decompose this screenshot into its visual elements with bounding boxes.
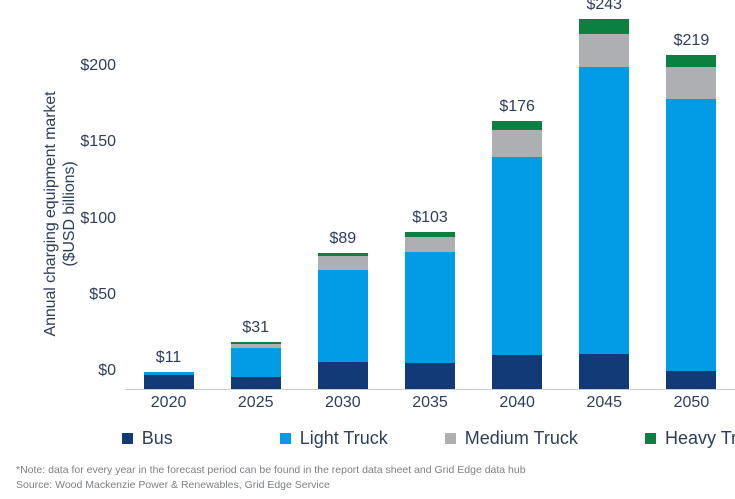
bar-segment-medium-truck[interactable] [318, 256, 368, 270]
bar-column[interactable]: $2432045 [579, 19, 629, 389]
bar-total-label: $11 [156, 349, 182, 367]
legend-label: Bus [142, 428, 173, 449]
footnote-source: Source: Wood Mackenzie Power & Renewable… [16, 478, 716, 493]
bar-segment-light-truck[interactable] [579, 67, 629, 354]
bar-total-label: $89 [329, 230, 356, 248]
plot-area: $0$50$100$150$200$250$112020$312025$8920… [125, 8, 735, 390]
y-axis-tick-label: $0 [98, 362, 116, 380]
x-axis-tick-label: 2040 [499, 394, 535, 412]
bar-segment-medium-truck[interactable] [579, 34, 629, 68]
legend-label: Heavy Truck [665, 428, 735, 449]
bar-total-label: $31 [242, 319, 269, 337]
bar-segment-bus[interactable] [492, 355, 542, 389]
bar-segment-heavy-truck[interactable] [579, 19, 629, 34]
legend-item-light-truck[interactable]: Light Truck [280, 424, 388, 452]
legend-label: Light Truck [300, 428, 388, 449]
bar-column[interactable]: $112020 [144, 372, 194, 389]
bar-segment-bus[interactable] [666, 371, 716, 389]
y-axis-tick-label: $150 [80, 133, 116, 151]
legend-item-medium-truck[interactable]: Medium Truck [445, 424, 578, 452]
bar-column[interactable]: $1762040 [492, 121, 542, 389]
x-axis-tick-label: 2025 [238, 394, 274, 412]
bar-segment-medium-truck[interactable] [405, 237, 455, 252]
bar-segment-heavy-truck[interactable] [492, 121, 542, 130]
bar-column[interactable]: $892030 [318, 253, 368, 389]
bar-segment-light-truck[interactable] [318, 270, 368, 361]
y-axis-tick-label: $50 [89, 286, 116, 304]
footnote-note: *Note: data for every year in the foreca… [16, 463, 716, 478]
x-axis-tick-label: 2045 [586, 394, 622, 412]
bar-segment-light-truck[interactable] [492, 157, 542, 355]
x-axis-line [125, 389, 735, 390]
bar-total-label: $176 [499, 98, 535, 116]
bar-segment-bus[interactable] [318, 362, 368, 389]
bar-column[interactable]: $2192050 [666, 55, 716, 389]
bar-segment-bus[interactable] [231, 377, 281, 389]
x-axis-tick-label: 2020 [151, 394, 187, 412]
bar-segment-medium-truck[interactable] [666, 67, 716, 99]
y-axis-title: Annual charging equipment market ($USD b… [41, 39, 79, 389]
legend-item-heavy-truck[interactable]: Heavy Truck [645, 424, 735, 452]
y-axis-tick-label: $100 [80, 210, 116, 228]
bar-segment-heavy-truck[interactable] [666, 55, 716, 67]
x-axis-tick-label: 2035 [412, 394, 448, 412]
bar-column[interactable]: $1032035 [405, 232, 455, 389]
footnotes-block: *Note: data for every year in the foreca… [16, 463, 716, 493]
bar-segment-light-truck[interactable] [231, 348, 281, 377]
legend-label: Medium Truck [465, 428, 578, 449]
x-axis-tick-label: 2050 [674, 394, 710, 412]
y-axis-tick-label: $200 [80, 57, 116, 75]
legend-item-bus[interactable]: Bus [122, 424, 173, 452]
bar-segment-bus[interactable] [579, 354, 629, 389]
bar-segment-light-truck[interactable] [666, 99, 716, 370]
x-axis-tick-label: 2030 [325, 394, 361, 412]
bar-segment-medium-truck[interactable] [492, 130, 542, 157]
legend-swatch-medium-truck [445, 433, 456, 444]
bar-segment-bus[interactable] [405, 363, 455, 389]
chart-legend: BusLight TruckMedium TruckHeavy Truck [60, 424, 710, 452]
bar-column[interactable]: $312025 [231, 342, 281, 389]
chart-container: Annual charging equipment market ($USD b… [0, 0, 735, 499]
bar-total-label: $243 [586, 0, 622, 14]
legend-swatch-bus [122, 433, 133, 444]
bar-total-label: $103 [412, 209, 448, 227]
legend-swatch-heavy-truck [645, 433, 656, 444]
legend-swatch-light-truck [280, 433, 291, 444]
bar-segment-light-truck[interactable] [405, 252, 455, 363]
bar-total-label: $219 [674, 32, 710, 50]
bar-segment-bus[interactable] [144, 375, 194, 389]
